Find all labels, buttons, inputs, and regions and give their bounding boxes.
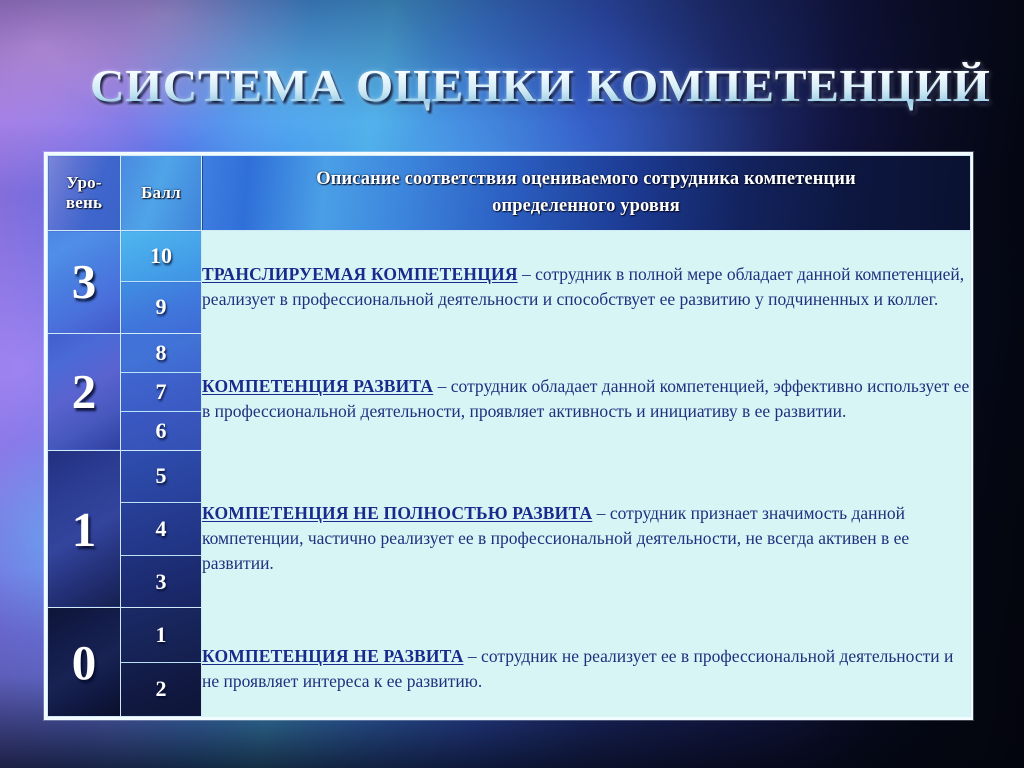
- description-cell-level-3: ТРАНСЛИРУЕМАЯ КОМПЕТЕНЦИЯ – сотрудник в …: [202, 231, 971, 334]
- table: Уро- вень Балл Описание соответствия оце…: [47, 155, 971, 717]
- header-score-label: Балл: [121, 183, 201, 203]
- header-cell-score: Балл: [121, 156, 202, 231]
- header-cell-level: Уро- вень: [48, 156, 121, 231]
- description-cell-level-2: КОМПЕТЕНЦИЯ РАЗВИТА – сотрудник обладает…: [202, 333, 971, 450]
- description-cell-level-0: КОМПЕТЕНЦИЯ НЕ РАЗВИТА – сотрудник не ре…: [202, 608, 971, 717]
- score-value: 2: [121, 662, 202, 716]
- level-value-0: 0: [48, 608, 121, 717]
- table-row: 1 5 КОМПЕТЕНЦИЯ НЕ ПОЛНОСТЬЮ РАЗВИТА – с…: [48, 450, 971, 503]
- description-lead: КОМПЕТЕНЦИЯ НЕ РАЗВИТА: [202, 646, 464, 666]
- header-level-line2: вень: [48, 193, 120, 213]
- description-lead: КОМПЕТЕНЦИЯ НЕ ПОЛНОСТЬЮ РАЗВИТА: [202, 503, 592, 523]
- page-title: СИСТЕМА ОЦЕНКИ КОМПЕТЕНЦИЙ: [90, 57, 995, 115]
- score-value: 9: [121, 282, 202, 333]
- score-value: 1: [121, 608, 202, 662]
- header-cell-description: Описание соответствия оцениваемого сотру…: [202, 156, 971, 231]
- score-value: 8: [121, 333, 202, 372]
- slide-canvas: СИСТЕМА ОЦЕНКИ КОМПЕТЕНЦИЙ Уро- вень Бал…: [0, 0, 1024, 768]
- level-value-3: 3: [48, 231, 121, 334]
- score-value: 4: [121, 503, 202, 556]
- table-header-row: Уро- вень Балл Описание соответствия оце…: [48, 156, 971, 231]
- table-row: 2 8 КОМПЕТЕНЦИЯ РАЗВИТА – сотрудник обла…: [48, 333, 971, 372]
- level-value-1: 1: [48, 450, 121, 608]
- description-text: КОМПЕТЕНЦИЯ НЕ ПОЛНОСТЬЮ РАЗВИТА – сотру…: [202, 483, 970, 576]
- table-row: 3 10 ТРАНСЛИРУЕМАЯ КОМПЕТЕНЦИЯ – сотрудн…: [48, 231, 971, 282]
- score-value: 10: [121, 231, 202, 282]
- score-value: 6: [121, 411, 202, 450]
- level-value-2: 2: [48, 333, 121, 450]
- description-text: ТРАНСЛИРУЕМАЯ КОМПЕТЕНЦИЯ – сотрудник в …: [202, 252, 970, 312]
- description-cell-level-1: КОМПЕТЕНЦИЯ НЕ ПОЛНОСТЬЮ РАЗВИТА – сотру…: [202, 450, 971, 608]
- description-lead: ТРАНСЛИРУЕМАЯ КОМПЕТЕНЦИЯ: [202, 264, 518, 284]
- score-value: 3: [121, 555, 202, 608]
- score-value: 7: [121, 372, 202, 411]
- description-text: КОМПЕТЕНЦИЯ НЕ РАЗВИТА – сотрудник не ре…: [202, 630, 970, 694]
- header-level-line1: Уро-: [48, 173, 120, 193]
- header-description-line1: Описание соответствия оцениваемого сотру…: [202, 166, 970, 193]
- title-block: СИСТЕМА ОЦЕНКИ КОМПЕТЕНЦИЙ: [90, 57, 960, 115]
- description-text: КОМПЕТЕНЦИЯ РАЗВИТА – сотрудник обладает…: [202, 360, 970, 424]
- description-lead: КОМПЕТЕНЦИЯ РАЗВИТА: [202, 376, 433, 396]
- score-value: 5: [121, 450, 202, 503]
- header-description-line2: определенного уровня: [202, 193, 970, 220]
- competency-rating-table: Уро- вень Балл Описание соответствия оце…: [44, 152, 973, 720]
- table-row: 0 1 КОМПЕТЕНЦИЯ НЕ РАЗВИТА – сотрудник н…: [48, 608, 971, 662]
